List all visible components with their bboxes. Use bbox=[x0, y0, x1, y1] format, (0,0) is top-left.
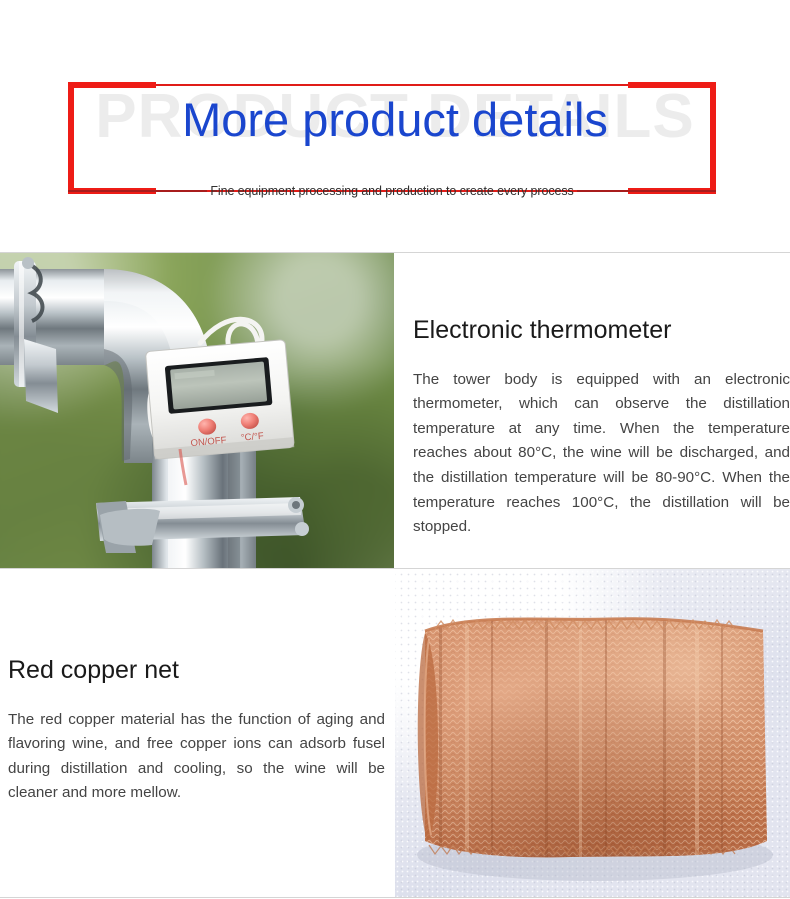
divider-below-section-2 bbox=[0, 897, 790, 898]
section-1-degree-1: °C bbox=[535, 444, 552, 461]
section-1-body: The tower body is equipped with an elect… bbox=[413, 368, 790, 540]
pipe-assembly: ON/OFF °C/°F bbox=[0, 253, 394, 569]
product-details-page: PRODUCT DETAILS More product details Fin… bbox=[0, 0, 790, 899]
section-red-copper-net: Red copper net The red copper material h… bbox=[0, 569, 790, 898]
red-copper-net-photo bbox=[395, 569, 790, 898]
subtitle-rule-left bbox=[68, 190, 207, 192]
section-1-degree-2: °C bbox=[694, 469, 711, 486]
section-1-degree-3: °C bbox=[597, 494, 614, 511]
copper-mesh-illustration bbox=[395, 569, 790, 898]
section-2-body: The red copper material has the function… bbox=[8, 708, 385, 807]
electronic-thermometer-photo: ON/OFF °C/°F bbox=[0, 253, 394, 569]
section-1-title: Electronic thermometer bbox=[413, 317, 790, 345]
subtitle-rule-right bbox=[577, 190, 716, 192]
section-2-copy: Red copper net The red copper material h… bbox=[8, 569, 385, 898]
section-1-copy: Electronic thermometer The tower body is… bbox=[413, 253, 790, 569]
section-2-title: Red copper net bbox=[8, 657, 385, 685]
section-electronic-thermometer: ON/OFF °C/°F Electronic thermometer The … bbox=[0, 253, 790, 569]
frame-bracket-top-left-horizontal bbox=[68, 82, 156, 88]
pipe-illustration: ON/OFF °C/°F bbox=[0, 253, 394, 569]
frame-bracket-top-right-horizontal bbox=[628, 82, 716, 88]
page-title: More product details bbox=[0, 96, 790, 143]
page-banner: PRODUCT DETAILS More product details Fin… bbox=[0, 0, 790, 253]
banner-subtitle: Fine equipment processing and production… bbox=[207, 184, 576, 198]
frame-line-top bbox=[68, 84, 716, 86]
copper-mesh-roll bbox=[395, 569, 790, 898]
banner-subtitle-row: Fine equipment processing and production… bbox=[68, 184, 716, 198]
